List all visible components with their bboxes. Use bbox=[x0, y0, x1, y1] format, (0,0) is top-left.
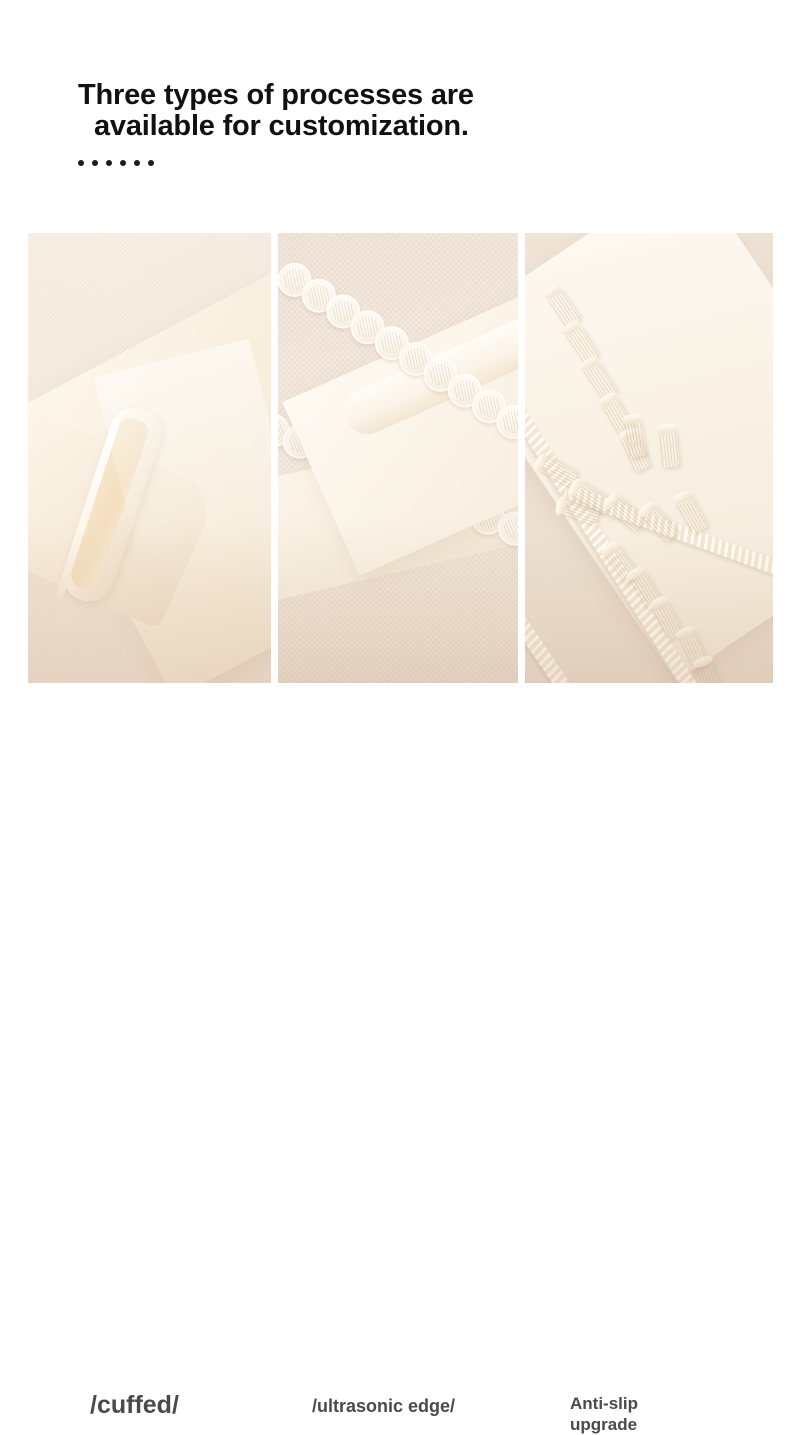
dot-icon bbox=[78, 160, 84, 166]
gallery-panel-ultrasonic-edge[interactable] bbox=[278, 233, 518, 683]
headline-line-1: Three types of processes are bbox=[78, 80, 678, 111]
dot-icon bbox=[134, 160, 140, 166]
product-photo-anti-slip-upgrade bbox=[525, 233, 773, 683]
photo-shadow bbox=[278, 513, 518, 683]
caption-anti-slip-upgrade: Anti-slip upgrade bbox=[570, 1393, 638, 1435]
page-title: Three types of processes are available f… bbox=[78, 80, 678, 142]
product-photo-ultrasonic-edge bbox=[278, 233, 518, 683]
caption-ultrasonic-edge: /ultrasonic edge/ bbox=[312, 1395, 455, 1417]
gallery bbox=[28, 233, 773, 683]
dot-icon bbox=[106, 160, 112, 166]
caption-cuffed: /cuffed/ bbox=[90, 1391, 179, 1419]
gallery-panel-anti-slip-upgrade[interactable] bbox=[525, 233, 773, 683]
headline-line-2: available for customization. bbox=[78, 111, 678, 142]
photo-shadow bbox=[28, 523, 271, 683]
header-section: Three types of processes are available f… bbox=[0, 0, 800, 233]
dot-icon bbox=[92, 160, 98, 166]
decorative-dots bbox=[78, 160, 154, 166]
product-photo-cuffed bbox=[28, 233, 271, 683]
gallery-panel-cuffed[interactable] bbox=[28, 233, 271, 683]
captions-row: /cuffed/ /ultrasonic edge/ Anti-slip upg… bbox=[0, 683, 800, 800]
dot-icon bbox=[120, 160, 126, 166]
dot-icon bbox=[148, 160, 154, 166]
photo-shadow bbox=[525, 533, 773, 683]
